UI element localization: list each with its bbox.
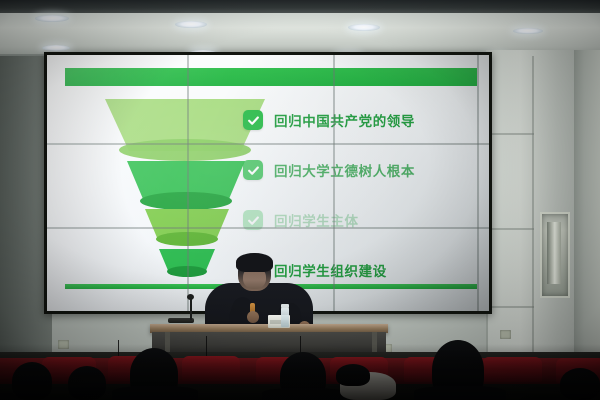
ceiling-light xyxy=(348,24,380,31)
funnel-graphic xyxy=(105,99,265,259)
wall-outlet xyxy=(58,340,69,349)
wall-seam xyxy=(532,56,534,356)
slide-bullet-1-label: 回归中国共产党的领导 xyxy=(274,110,415,130)
presenter-hair xyxy=(236,253,273,272)
video-wall-seam xyxy=(47,143,489,145)
video-wall-seam xyxy=(333,55,335,311)
check-icon xyxy=(243,160,263,180)
video-wall-seam xyxy=(47,227,489,229)
screenshot-root: 回归中国共产党的领导 回归大学立德树人根本 回归学生主体 xyxy=(0,0,600,400)
wall-seam xyxy=(486,133,534,135)
video-wall-seam xyxy=(187,55,189,311)
audience-shoulders xyxy=(262,388,346,400)
audience-head xyxy=(12,362,52,400)
slide-bullet-3[interactable]: 回归学生主体 xyxy=(243,207,483,233)
ceiling-light xyxy=(513,28,543,34)
slide-top-bar xyxy=(65,68,477,86)
theater-seat xyxy=(482,357,542,382)
funnel-segment-2 xyxy=(127,161,245,203)
video-wall-seam xyxy=(477,55,479,311)
slide-bullet-2-label: 回归大学立德树人根本 xyxy=(274,160,415,180)
ceiling-light xyxy=(35,15,69,22)
audience-shoulders xyxy=(414,386,506,400)
wall-corner xyxy=(574,50,600,356)
wall-seam xyxy=(486,306,534,308)
theater-seat xyxy=(182,356,240,381)
desk-microphone-head xyxy=(187,294,194,300)
wall-seam xyxy=(486,228,534,230)
audience-head xyxy=(68,366,106,400)
audience-shoulders xyxy=(112,386,198,400)
water-bottle-cap xyxy=(281,304,289,308)
desk-microphone-stem xyxy=(190,298,192,320)
funnel-segment-2-base xyxy=(140,192,232,210)
wall-niche-inner xyxy=(547,222,561,284)
wall-outlet xyxy=(500,330,511,339)
ceiling-light xyxy=(42,45,70,51)
audience-head xyxy=(560,368,600,400)
check-icon xyxy=(243,110,263,130)
audience-head xyxy=(336,364,370,386)
slide-bullet-2[interactable]: 回归大学立德树人根本 xyxy=(243,157,483,183)
ceiling-light xyxy=(175,21,207,28)
water-bottle xyxy=(281,307,289,327)
slide-bullet-1[interactable]: 回归中国共产党的领导 xyxy=(243,107,483,133)
presenter-hand xyxy=(247,311,259,323)
wall-niche xyxy=(540,212,570,298)
ceiling-dark-band xyxy=(0,0,600,13)
